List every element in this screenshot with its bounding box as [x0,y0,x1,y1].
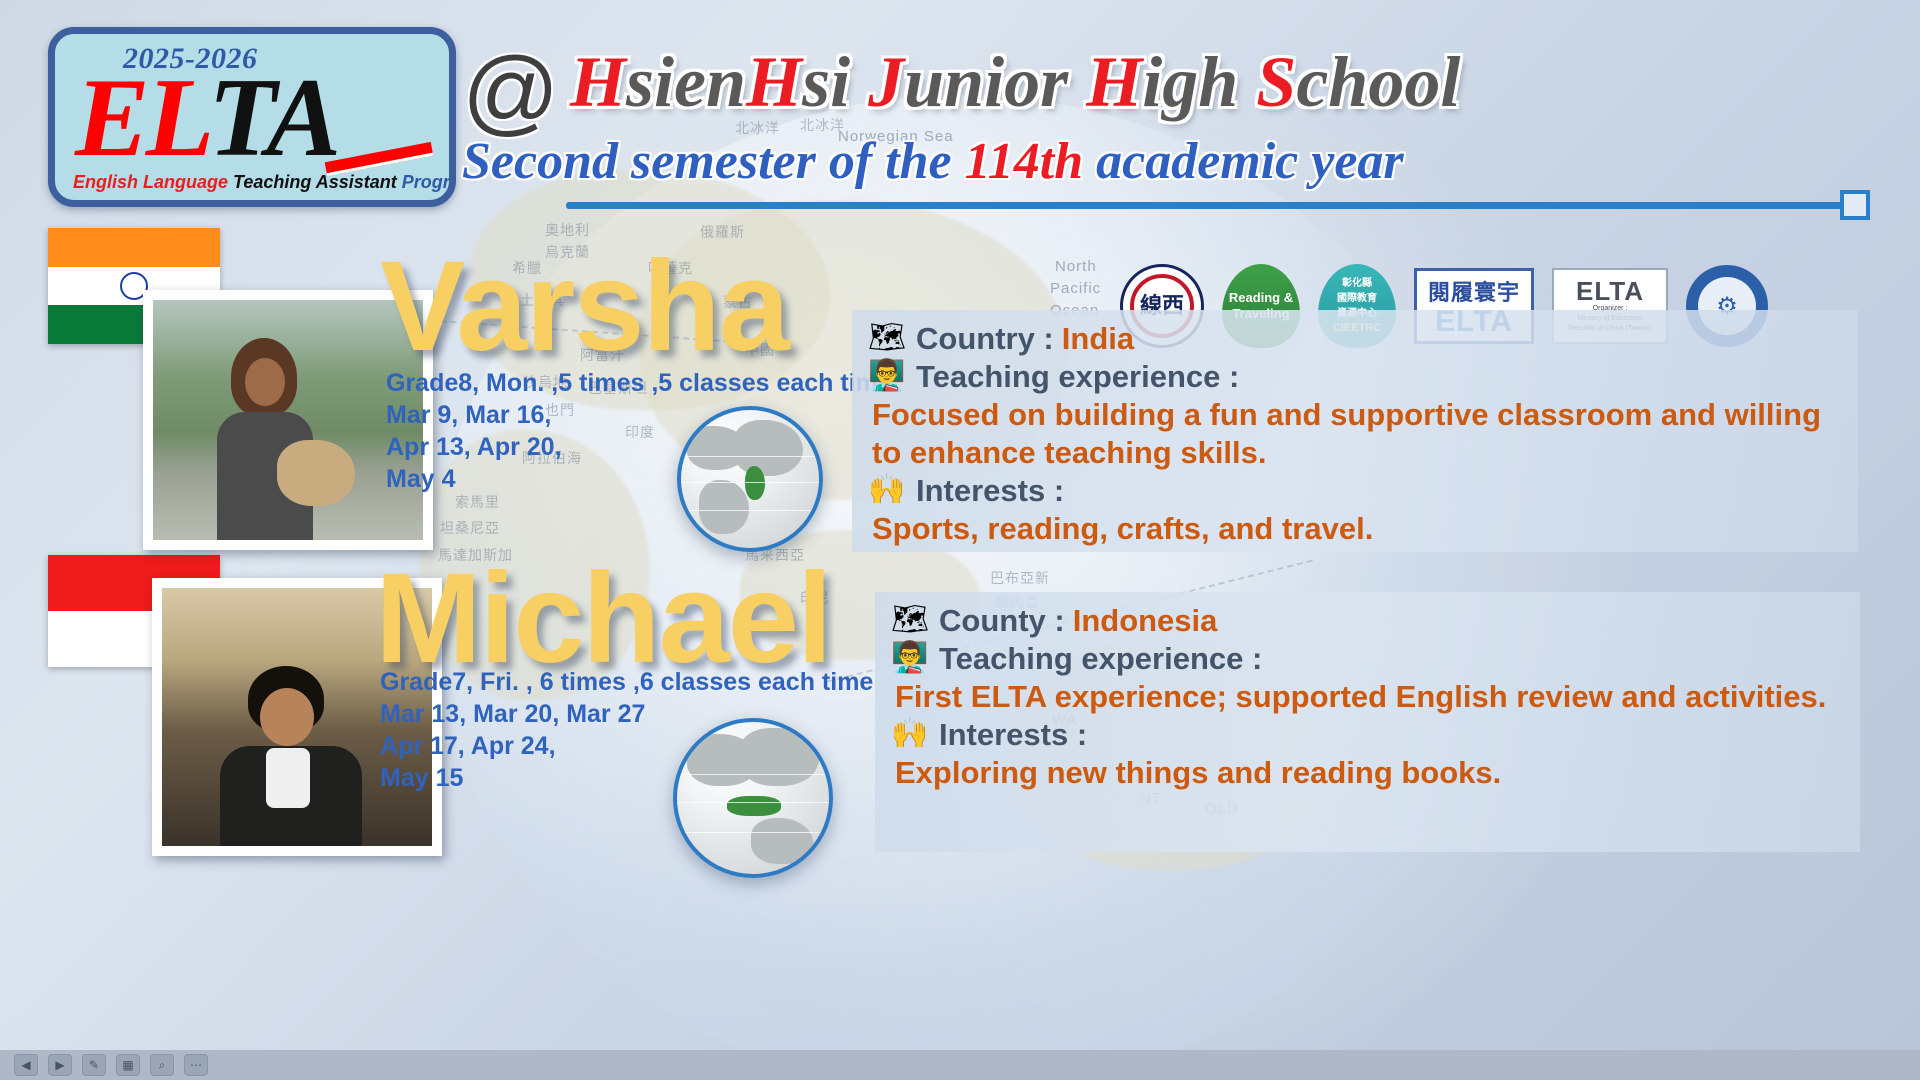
india-globe-icon [677,406,823,552]
cieetrc-cjk2: 國際教育 [1337,291,1377,306]
interests-label: Interests : [939,716,1087,754]
elta-logo-ta: TA [208,56,337,180]
interests-row: 🙌 Interests : [889,716,1842,754]
reading-label: Reading & [1229,290,1293,306]
world-pin-icon: 🗺 [866,320,908,356]
semester-suffix: academic year [1083,133,1404,190]
world-pin-icon: 🗺 [889,602,931,638]
hobbies-person-icon: 🙌 [889,716,931,752]
map-label: Pacific [1050,280,1101,297]
country-label: Country : [916,320,1054,358]
cieetrc-cjk1: 彰化縣 [1342,276,1372,291]
globe-graticule-1 [681,456,819,457]
schedule-line: Grade7, Fri. , 6 times ,6 classes each t… [380,666,873,698]
title-unior: unior [904,42,1068,122]
subtitle-semester: Second semester of the 114th academic ye… [462,133,1404,191]
country-label: County : [939,602,1065,640]
at-symbol: @ [462,44,559,140]
country-value: India [1062,320,1134,358]
map-label: North [1055,258,1097,275]
indonesia-globe-icon [673,718,833,878]
map-label: 巴布亞新 [990,568,1050,588]
schedule-line: Mar 9, Mar 16, [386,399,892,431]
globe-graticule-2 [677,802,829,803]
teacher-name-michael: Michael [375,555,831,683]
map-label: 坦桑尼亞 [440,518,500,538]
michael-shirt [266,748,310,808]
teaching-text: First ELTA experience; supported English… [889,678,1842,716]
globe-graticule-1 [677,774,829,775]
varsha-face [245,358,285,406]
teaching-row: 👨‍🏫 Teaching experience : [889,640,1842,678]
elta-logo-tagline: English Language Teaching Assistant Prog… [73,172,456,193]
title-chool: chool [1296,42,1460,122]
globe-land-3 [699,480,749,534]
teaching-row: 👨‍🏫 Teaching experience : [866,358,1840,396]
title-j: J [868,42,904,122]
zoom-tool-button[interactable]: ⌕ [150,1054,174,1076]
pen-tool-button[interactable]: ✎ [82,1054,106,1076]
slide-grid-button[interactable]: ▦ [116,1054,140,1076]
prev-slide-button[interactable]: ◀ [14,1054,38,1076]
slide-canvas: Norwegian Sea北冰洋北冰洋俄羅斯奧地利烏克蘭哈薩克希臘土耳其蒙古中國… [0,0,1920,1050]
schedule-line: Grade8, Mon. ,5 times ,5 classes each ti… [386,367,892,399]
interests-label: Interests : [916,472,1064,510]
interests-text: Sports, reading, crafts, and travel. [866,510,1840,548]
elta-org-wordmark: ELTA [1576,278,1644,304]
globe-land-2 [739,728,819,786]
title-si: si [802,42,850,122]
india-highlight [745,466,765,500]
info-panel-varsha: 🗺 Country : India 👨‍🏫 Teaching experienc… [852,310,1858,552]
teaching-label: Teaching experience : [939,640,1262,678]
teaching-group-icon: 👨‍🏫 [866,358,908,394]
teacher-name-varsha: Varsha [380,243,788,371]
country-row: 🗺 County : Indonesia [889,602,1842,640]
globe-graticule-2 [681,482,819,483]
title-h2: H [746,42,802,122]
country-value: Indonesia [1073,602,1218,640]
elta-logo-el: EL [75,56,208,180]
indonesia-highlight [727,796,781,816]
schedule-line: Mar 13, Mar 20, Mar 27 [380,698,873,730]
slideshow-toolbar[interactable]: ◀▶✎▦⌕⋯ [0,1050,1920,1080]
teaching-label: Teaching experience : [916,358,1239,396]
globe-land-2 [733,420,803,476]
semester-prefix: Second semester of the [462,133,965,190]
title-h1: H [570,42,626,122]
michael-face [260,688,314,746]
presentation-window: Norwegian Sea北冰洋北冰洋俄羅斯奧地利烏克蘭哈薩克希臘土耳其蒙古中國… [0,0,1920,1080]
map-label: 索馬里 [455,492,500,512]
globe-land-3 [751,818,813,864]
elta-logo-wordmark: ELTA [75,62,337,174]
elta-tagline-part1: English Language [73,172,228,192]
header-divider-endcap [1840,190,1870,220]
interests-row: 🙌 Interests : [866,472,1840,510]
globe-graticule-3 [681,510,819,511]
semester-number: 114th [965,133,1084,190]
info-panel-michael: 🗺 County : Indonesia 👨‍🏫 Teaching experi… [875,592,1860,852]
elta-program-logo: 2025-2026 ELTA English Language Teaching… [48,27,456,207]
dog-in-photo [277,440,355,506]
teaching-group-icon: 👨‍🏫 [889,640,931,676]
globe-graticule-3 [677,832,829,833]
india-flag-saffron [48,228,220,267]
title-sien: sien [626,42,746,122]
teaching-text: Focused on building a fun and supportive… [866,396,1840,472]
page-title: HsienHsi Junior High School [570,43,1460,121]
interests-text: Exploring new things and reading books. [889,754,1842,792]
elta-tagline-part2: Teaching Assistant [233,172,397,192]
hobbies-person-icon: 🙌 [866,472,908,508]
title-igh: igh [1142,42,1238,122]
reading-world-cjk: 閱履寰宇 [1428,275,1520,307]
country-row: 🗺 Country : India [866,320,1840,358]
title-s: S [1256,42,1296,122]
more-options-button[interactable]: ⋯ [184,1054,208,1076]
title-h3: H [1086,42,1142,122]
header-divider [566,202,1848,209]
next-slide-button[interactable]: ▶ [48,1054,72,1076]
elta-tagline-part3: Program [402,172,456,192]
